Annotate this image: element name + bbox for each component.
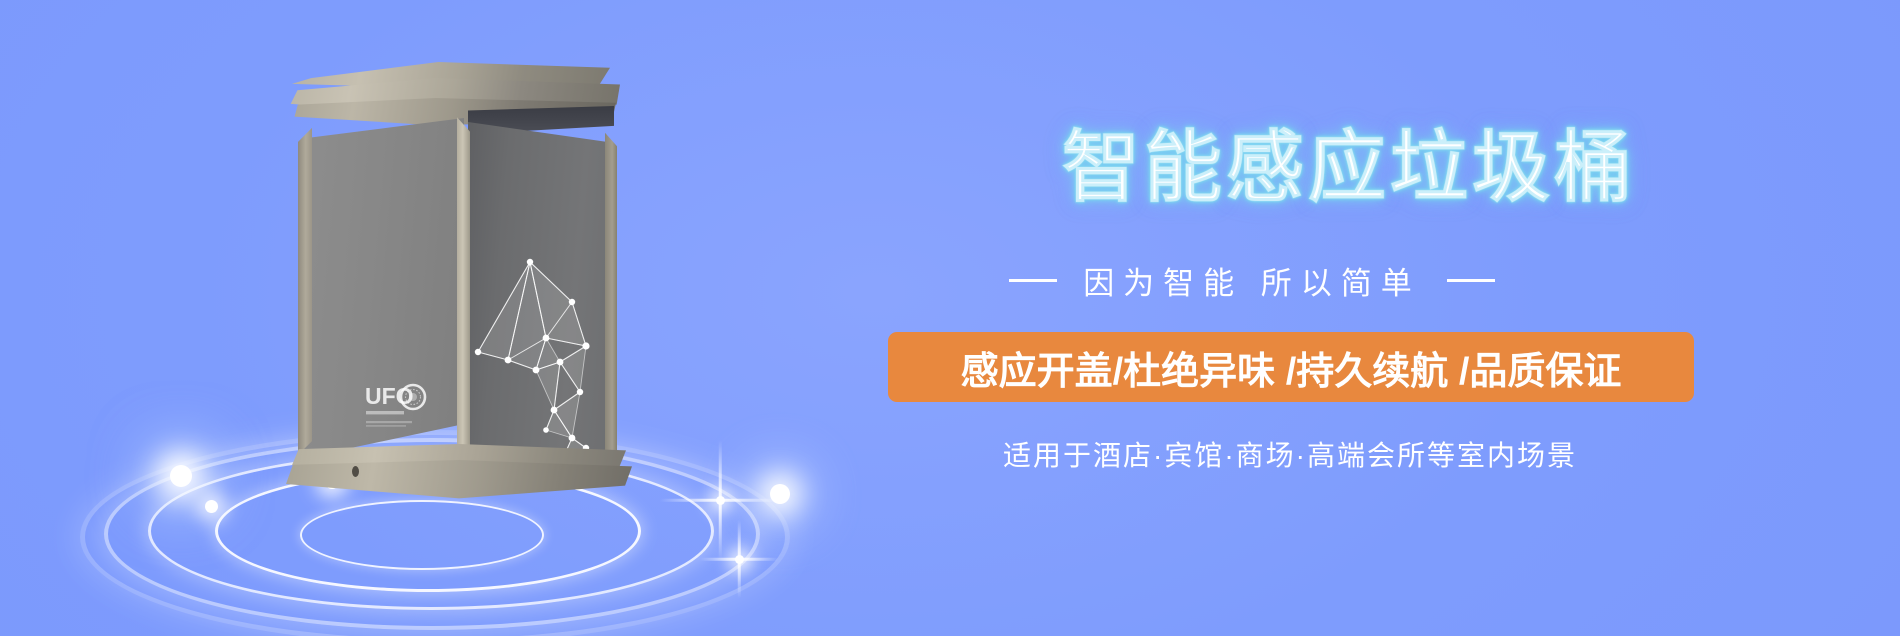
smart-trash-bin-product-image: UFO [272, 62, 632, 494]
copy-block: 智能感应垃圾桶 因为智能 所以简单 感应开盖/杜绝异味 /持久续航 /品质保证 … [880, 0, 1900, 636]
subline-dash-right [1447, 279, 1495, 282]
subline: 因为智能 所以简单 [902, 258, 1602, 303]
usage-scenario-text: 适用于酒店·宾馆·商场·高端会所等室内场景 [880, 434, 1700, 474]
ring-glow-dot-left-inner [205, 500, 218, 513]
polygon-network-graphic [468, 242, 618, 472]
feature-highlight-text: 感应开盖/杜绝异味 /持久续航 /品质保证 [961, 340, 1622, 395]
sparkle-star-small [700, 520, 778, 598]
polygon-network-svg [468, 242, 618, 472]
brand-logo: UFO [364, 380, 430, 432]
feature-highlight-bar: 感应开盖/杜绝异味 /持久续航 /品质保证 [888, 332, 1694, 402]
ripple-ring-1 [300, 500, 544, 570]
bin-edge-left [298, 114, 312, 462]
subline-dash-left [1009, 279, 1057, 282]
product-stage: UFO [0, 0, 860, 636]
subline-text: 因为智能 所以简单 [1083, 258, 1421, 303]
ring-glow-dot-left-outer [170, 465, 192, 487]
product-banner: UFO 智能感应垃圾桶 因为智能 所以简单 感应开盖/杜绝异味 [0, 0, 1900, 636]
ufo-logo-svg: UFO [364, 380, 430, 432]
bin-sensor-port [352, 466, 359, 477]
headline: 智能感应垃圾桶 [1062, 128, 1636, 206]
